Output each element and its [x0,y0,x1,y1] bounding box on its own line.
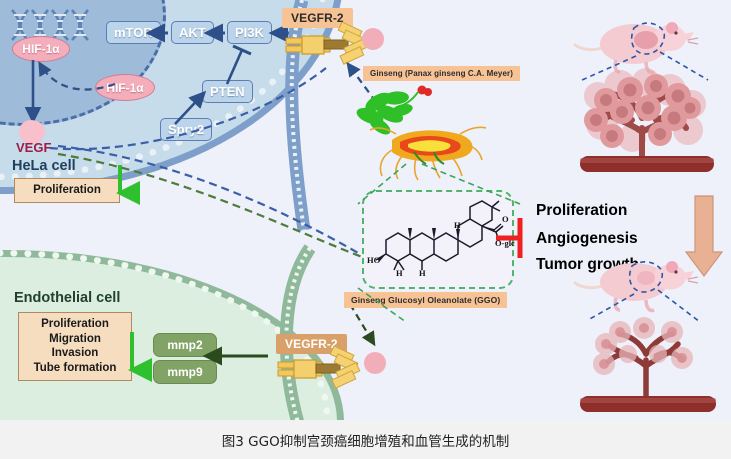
endothelial-outcome-line-3: Invasion [26,346,124,361]
ginseng-plant-label: Ginseng (Panax ginseng C.A. Meyer) [363,66,520,81]
endothelial-decrease-arrow [122,330,144,382]
ggo-to-receptor-bottom-arrow [340,300,400,360]
endothelial-outcome-line-2: Migration [26,332,124,347]
endothelial-outcome-box: Proliferation Migration Invasion Tube fo… [18,312,132,381]
vegf-autocrine-dashed-line [40,60,340,160]
endothelial-outcome-line-4: Tube formation [26,361,124,376]
mouse-untreated-illustration [572,8,724,176]
endothelial-outcome-line-1: Proliferation [26,317,124,332]
effect-angiogenesis: Angiogenesis [536,230,638,248]
figure-canvas: HIF-1α HIF-1α VEGF mTOR AKT PI3K PTEN Sp… [0,0,731,420]
endothelial-cell-title: Endothelial cell [14,290,120,306]
mmp-activation-arrow [198,345,273,367]
ggo-inhibition-bar [496,212,530,264]
effect-proliferation: Proliferation [536,202,627,220]
figure-caption: 图3 GGO抑制宫颈癌细胞增殖和血管生成的机制 [0,420,731,459]
mouse-treated-illustration [572,250,724,415]
vegf-ligand-top [362,28,384,50]
